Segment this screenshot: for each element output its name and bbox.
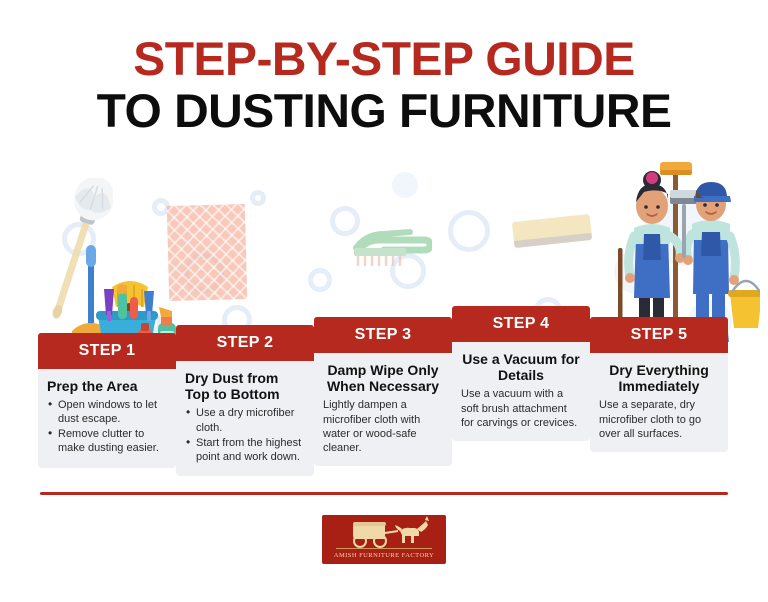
step-heading-4: Use a Vacuum for Details xyxy=(461,351,581,383)
step-heading-5: Dry Everything Immediately xyxy=(599,362,719,394)
step-heading-1: Prep the Area xyxy=(47,378,167,394)
step-badge-2: STEP 2 xyxy=(176,325,314,361)
step-badge-3: STEP 3 xyxy=(314,317,452,353)
step-badge-5: STEP 5 xyxy=(590,317,728,353)
infographic-page: STEP-BY-STEP GUIDE TO DUSTING FURNITURE xyxy=(0,0,768,602)
step-description-4: Use a vacuum with a soft brush attachmen… xyxy=(461,387,581,429)
step-body-3: Damp Wipe Only When Necessary Lightly da… xyxy=(314,353,452,466)
list-item: Remove clutter to make dusting easier. xyxy=(47,427,167,455)
logo-divider xyxy=(336,548,432,549)
logo-brand-name: Amish Furniture Factory xyxy=(322,552,446,559)
step-badge-1: STEP 1 xyxy=(38,333,176,369)
step-body-2: Dry Dust from Top to Bottom Use a dry mi… xyxy=(176,361,314,476)
step-body-1: Prep the Area Open windows to let dust e… xyxy=(38,369,176,468)
horse-and-buggy-icon xyxy=(322,515,446,549)
footer-divider xyxy=(40,492,728,495)
list-item: Use a dry microfiber cloth. xyxy=(185,406,305,434)
step-heading-3: Damp Wipe Only When Necessary xyxy=(323,362,443,394)
step-card-1[interactable]: STEP 1 Prep the Area Open windows to let… xyxy=(38,333,176,468)
step-body-5: Dry Everything Immediately Use a separat… xyxy=(590,353,728,452)
list-item: Start from the highest point and work do… xyxy=(185,436,305,464)
step-bullets-1: Open windows to let dust escape. Remove … xyxy=(47,398,167,455)
step-description-5: Use a separate, dry microfiber cloth to … xyxy=(599,398,719,440)
list-item: Open windows to let dust escape. xyxy=(47,398,167,426)
step-badge-4: STEP 4 xyxy=(452,306,590,342)
step-card-4[interactable]: STEP 4 Use a Vacuum for Details Use a va… xyxy=(452,306,590,441)
steps-container: STEP 1 Prep the Area Open windows to let… xyxy=(0,0,768,602)
step-card-3[interactable]: STEP 3 Damp Wipe Only When Necessary Lig… xyxy=(314,317,452,466)
step-body-4: Use a Vacuum for Details Use a vacuum wi… xyxy=(452,342,590,441)
step-card-2[interactable]: STEP 2 Dry Dust from Top to Bottom Use a… xyxy=(176,325,314,476)
brand-logo[interactable]: Amish Furniture Factory xyxy=(322,515,446,564)
step-description-3: Lightly dampen a microfiber cloth with w… xyxy=(323,398,443,454)
step-card-5[interactable]: STEP 5 Dry Everything Immediately Use a … xyxy=(590,317,728,452)
step-heading-2: Dry Dust from Top to Bottom xyxy=(185,370,305,402)
step-bullets-2: Use a dry microfiber cloth. Start from t… xyxy=(185,406,305,463)
